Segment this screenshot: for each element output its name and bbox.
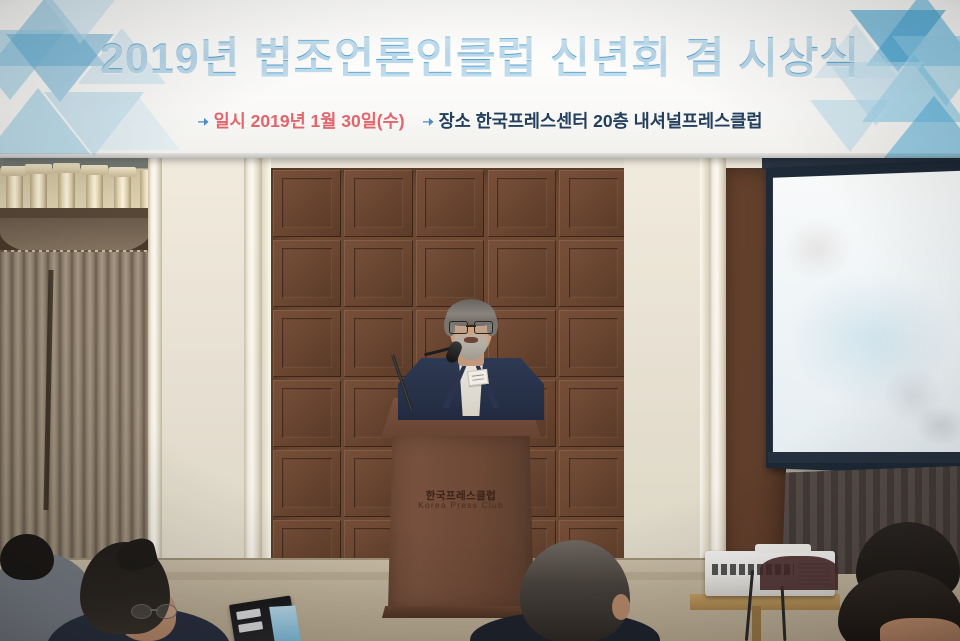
- wood-panel: [559, 310, 628, 377]
- wood-panel: [273, 240, 342, 307]
- pilaster-b: [244, 150, 262, 580]
- pilaster-a: [148, 150, 162, 570]
- wood-panel: [344, 170, 413, 237]
- photograph-scene: 한국프레스클럽 Korea Press Club: [0, 0, 960, 641]
- projection-screen-assembly: [766, 168, 960, 468]
- wood-panel: [273, 450, 342, 517]
- wall-section-left: [162, 150, 246, 580]
- audience-member-shoulders: [760, 556, 838, 590]
- wood-panel: [488, 170, 557, 237]
- projection-screen-frame: [766, 160, 960, 476]
- speaker-mouth: [464, 337, 478, 343]
- wall-section-right: [624, 150, 702, 580]
- curtain: [0, 252, 150, 560]
- speaker-person: [398, 296, 544, 416]
- pilaster-e: [709, 150, 726, 580]
- projector-table-leg: [752, 606, 761, 641]
- banner-subtitle: 일시 2019년 1월 30일(수)장소 한국프레스센터 20층 내셔널프레스클…: [0, 108, 960, 133]
- wood-panel: [273, 380, 342, 447]
- wood-panel: [559, 240, 628, 307]
- classical-column-frieze: [0, 152, 172, 214]
- eyeglasses-icon: [449, 321, 493, 332]
- wood-panel: [416, 170, 485, 237]
- name-badge: [467, 369, 489, 386]
- banner-bottom-edge: [0, 153, 960, 158]
- event-banner: 2019년 법조언론인클럽 신년회 겸 시상식 일시 2019년 1월 30일(…: [0, 0, 960, 158]
- podium-body: 한국프레스클럽 Korea Press Club: [388, 436, 534, 611]
- wood-panel: [559, 450, 628, 517]
- projection-screen-surface: [773, 171, 960, 461]
- projector-table: [690, 594, 840, 610]
- arrow-bullet-icon: [198, 118, 209, 126]
- podium-label-english: Korea Press Club: [388, 500, 534, 510]
- wood-panel: [273, 170, 342, 237]
- banner-date: 일시 2019년 1월 30일(수): [198, 111, 405, 131]
- wood-panel: [273, 310, 342, 377]
- eyeglasses-icon: [131, 604, 177, 617]
- curtain-alcove: [0, 218, 150, 560]
- arrow-bullet-icon: [423, 118, 434, 126]
- wood-panel: [559, 170, 628, 237]
- pilaster-c: [262, 150, 271, 580]
- wood-panel: [559, 380, 628, 447]
- audience-member-head: [0, 534, 54, 580]
- banner-title: 2019년 법조언론인클럽 신년회 겸 시상식: [0, 24, 960, 86]
- screen-bottom-bar: [768, 452, 960, 463]
- projector-top-cover: [755, 544, 811, 553]
- banner-place-text: 장소 한국프레스센터 20층 내셔널프레스클럽: [439, 111, 763, 131]
- tablet-screen: [269, 606, 301, 641]
- pilaster-d: [700, 150, 709, 580]
- banner-place: 장소 한국프레스센터 20층 내셔널프레스클럽: [423, 111, 763, 131]
- audience-member-ear: [612, 594, 630, 620]
- audience-member-face: [880, 618, 960, 641]
- banner-date-text: 일시 2019년 1월 30일(수): [214, 111, 405, 131]
